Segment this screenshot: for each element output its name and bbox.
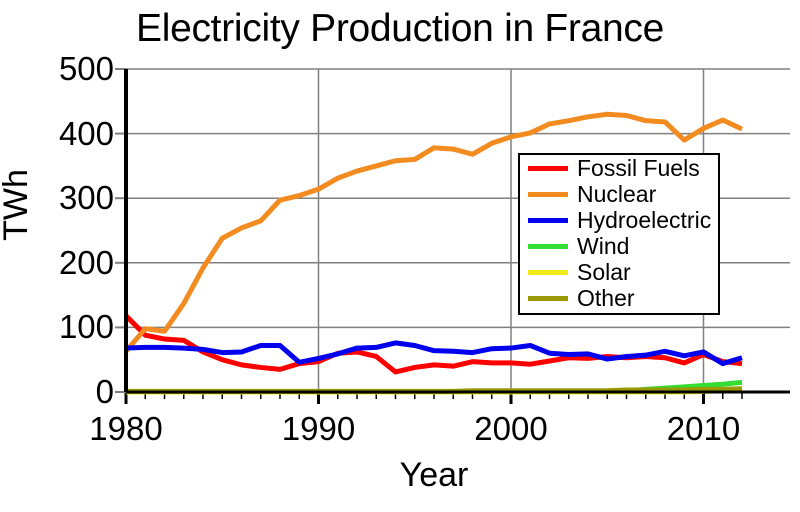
legend-color-swatch-icon (528, 296, 568, 301)
legend-item-label: Fossil Fuels (577, 157, 700, 180)
series-line-fossil-fuels (126, 316, 742, 372)
legend-item-label: Solar (577, 261, 631, 284)
x-tick-label: 2010 (634, 412, 774, 445)
y-tick-label: 100 (4, 310, 114, 343)
x-tick-label: 2000 (441, 412, 581, 445)
y-tick-label: 200 (4, 246, 114, 279)
legend-item-hydroelectric[interactable]: Hydroelectric (520, 207, 718, 233)
legend-item-label: Hydroelectric (577, 209, 711, 232)
legend-item-label: Other (577, 287, 635, 310)
legend-color-swatch-icon (528, 166, 568, 171)
legend-color-swatch-icon (528, 270, 568, 275)
legend: Fossil FuelsNuclearHydroelectricWindSola… (518, 153, 720, 315)
x-tick-label: 1990 (249, 412, 389, 445)
legend-item-solar[interactable]: Solar (520, 259, 718, 285)
legend-item-fossil-fuels[interactable]: Fossil Fuels (520, 155, 718, 181)
legend-item-label: Nuclear (577, 183, 656, 206)
legend-color-swatch-icon (528, 244, 568, 249)
y-tick-label: 300 (4, 181, 114, 214)
legend-item-wind[interactable]: Wind (520, 233, 718, 259)
legend-item-nuclear[interactable]: Nuclear (520, 181, 718, 207)
y-tick-label: 0 (4, 375, 114, 408)
x-tick-label: 1980 (56, 412, 196, 445)
y-tick-label: 500 (4, 52, 114, 85)
chart-figure: Electricity Production in France TWh Yea… (0, 0, 800, 512)
y-tick-label: 400 (4, 117, 114, 150)
legend-color-swatch-icon (528, 192, 568, 197)
legend-item-other[interactable]: Other (520, 285, 718, 311)
legend-color-swatch-icon (528, 218, 568, 223)
legend-item-label: Wind (577, 235, 629, 258)
